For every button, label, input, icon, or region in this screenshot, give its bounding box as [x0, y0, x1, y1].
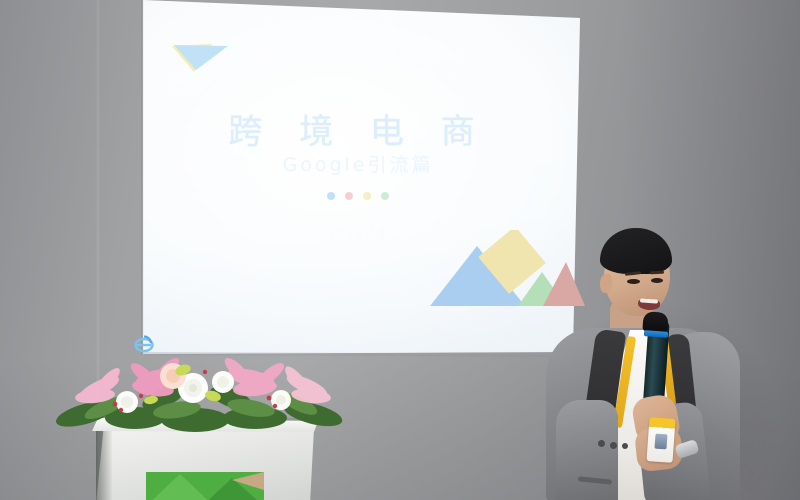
presentation-scene: 跨 境 电 商 Google引流篇 2019.12: [0, 0, 800, 500]
screen-left-edge: [141, 0, 144, 355]
podium-graphic-svg: [146, 466, 266, 500]
dot-green: [381, 192, 389, 200]
dot-yellow: [363, 192, 371, 200]
jacket-button-2: [610, 442, 617, 449]
jacket-button-1: [598, 440, 605, 447]
slide-dot-row: [143, 192, 573, 200]
green-mountain-graphic: [146, 466, 266, 500]
paper-plane-logo-svg: [170, 32, 250, 80]
dot-red: [345, 192, 353, 200]
id-badge-photo: [654, 434, 667, 450]
flower-arrangement-svg: [55, 352, 355, 438]
slide-title: 跨 境 电 商: [143, 104, 573, 153]
flower-arrangement: [55, 352, 355, 438]
presenter-eye-right: [651, 278, 663, 283]
presenter-eye-left: [627, 279, 640, 284]
internet-explorer-e-icon[interactable]: [134, 334, 154, 354]
paper-plane-logo: [170, 32, 250, 80]
dot-blue: [327, 192, 335, 200]
jacket-button-3: [622, 443, 628, 449]
mountain-graphic-svg: [430, 230, 585, 308]
presenter-ear: [600, 274, 612, 293]
slide-mountain-graphic: [430, 230, 585, 308]
slide-subtitle: Google引流篇: [143, 150, 573, 177]
presenter-arm-left: [556, 400, 618, 500]
e-icon-svg: [134, 334, 154, 354]
